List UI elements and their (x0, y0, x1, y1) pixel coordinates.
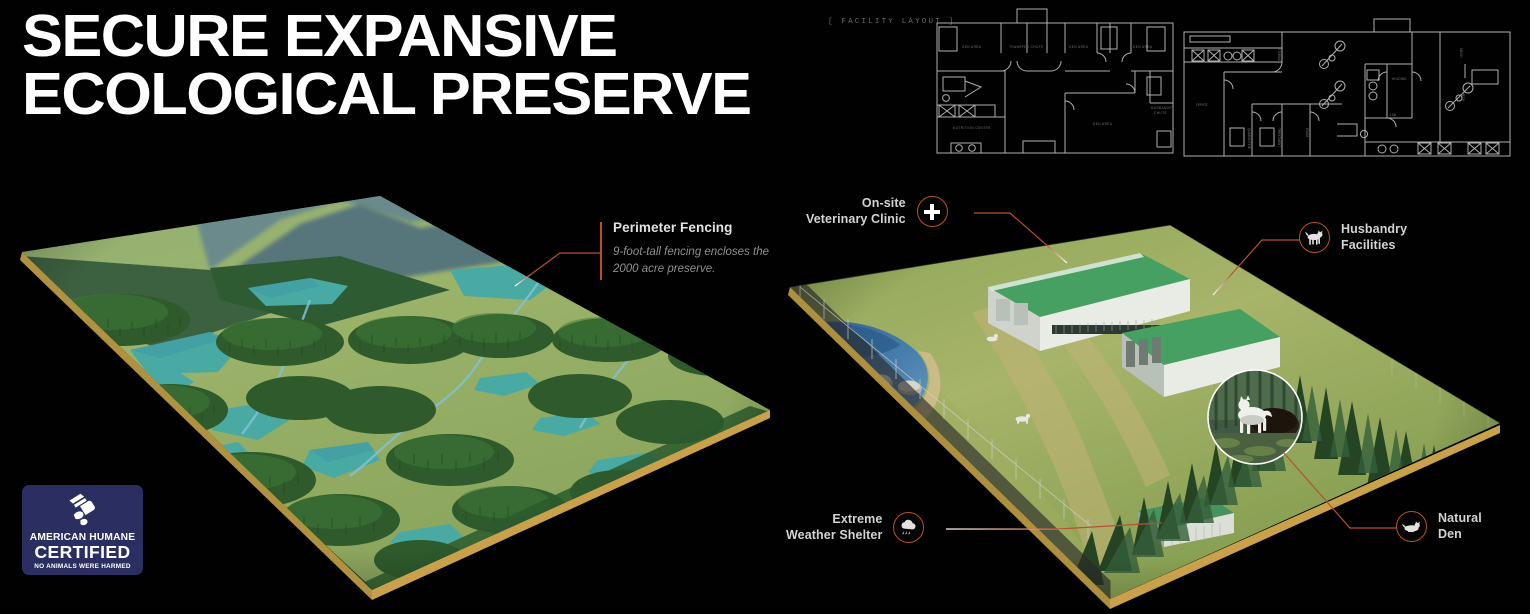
svg-text:LAB: LAB (1390, 113, 1396, 117)
den-photo-inset (1208, 370, 1302, 464)
infographic-canvas: SECURE EXPANSIVE ECOLOGICAL PRESERVE [ F… (0, 0, 1530, 609)
svg-text:DEN AREA: DEN AREA (1069, 45, 1089, 49)
natural-den-label-line-2: Den (1438, 527, 1482, 543)
wolf-resting-icon[interactable] (1396, 511, 1427, 542)
humane-hand-paw-icon (63, 491, 103, 531)
callout-husbandry-facilities[interactable]: Husbandry Facilities (1299, 222, 1407, 253)
svg-text:TRANSFER CHUTE: TRANSFER CHUTE (1009, 45, 1044, 49)
svg-text:TREATMENT: TREATMENT (1277, 128, 1281, 147)
page-title-line-2: ECOLOGICAL PRESERVE (22, 66, 750, 124)
callout-veterinary-clinic[interactable]: On-site Veterinary Clinic (806, 196, 948, 227)
svg-text:CHUTE: CHUTE (1154, 111, 1167, 115)
blueprint-plan-left: DEN AREA TRANSFER CHUTE DEN AREA DEN ARE… (935, 5, 1175, 157)
svg-text:DEN AREA: DEN AREA (1093, 122, 1113, 126)
svg-text:MECH: MECH (1461, 92, 1465, 102)
blueprint-plan-right: STORAGE OFFICE QUARANTINE TREATMENT EXAM… (1182, 18, 1512, 158)
svg-text:EXAM: EXAM (1305, 128, 1309, 137)
husbandry-facilities-label-line-1: Husbandry (1341, 222, 1407, 238)
svg-text:DEN AREA: DEN AREA (1133, 45, 1153, 49)
compound-aerial-model (740, 175, 1530, 609)
svg-text:HUSBANDRY: HUSBANDRY (1151, 106, 1175, 110)
natural-den-label: Natural Den (1438, 511, 1482, 542)
extreme-weather-shelter-label-line-2: Weather Shelter (786, 528, 882, 544)
svg-text:MECH: MECH (1459, 48, 1463, 58)
callout-natural-den[interactable]: Natural Den (1396, 511, 1482, 542)
veterinary-clinic-label: On-site Veterinary Clinic (806, 196, 906, 227)
perimeter-fencing-title: Perimeter Fencing (613, 220, 778, 235)
facility-layout-blueprint: [ FACILITY LAYOUT ] (820, 0, 1530, 160)
rain-cloud-icon[interactable] (893, 512, 924, 543)
extreme-weather-shelter-label-line-1: Extreme (786, 512, 882, 528)
perimeter-fencing-body: 9-foot-tall fencing encloses the 2000 ac… (613, 244, 778, 279)
extreme-weather-shelter-label: Extreme Weather Shelter (786, 512, 882, 543)
natural-den-label-line-1: Natural (1438, 511, 1482, 527)
svg-text:QUARANTINE: QUARANTINE (1247, 128, 1251, 149)
husbandry-facilities-label-line-2: Facilities (1341, 238, 1407, 254)
svg-text:OFFICE: OFFICE (1196, 103, 1208, 107)
svg-text:NUTRITION CENTER: NUTRITION CENTER (953, 126, 991, 130)
svg-text:STORAGE: STORAGE (1277, 48, 1281, 64)
page-title: SECURE EXPANSIVE ECOLOGICAL PRESERVE (22, 8, 750, 124)
svg-text:DEN AREA: DEN AREA (962, 45, 982, 49)
callout-perimeter-fencing: Perimeter Fencing 9-foot-tall fencing en… (600, 220, 778, 279)
medical-cross-icon[interactable] (917, 196, 948, 227)
veterinary-clinic-label-line-1: On-site (806, 196, 906, 212)
svg-text:HOLDING: HOLDING (1392, 77, 1407, 81)
wolf-standing-icon[interactable] (1299, 222, 1330, 253)
veterinary-clinic-label-line-2: Veterinary Clinic (806, 212, 906, 228)
callout-extreme-weather-shelter[interactable]: Extreme Weather Shelter (786, 512, 924, 543)
american-humane-certified-badge: AMERICAN HUMANE CERTIFIED NO ANIMALS WER… (22, 485, 143, 575)
badge-line-2: CERTIFIED (35, 543, 131, 561)
page-title-line-1: SECURE EXPANSIVE (22, 8, 750, 66)
badge-line-3: NO ANIMALS WERE HARMED (34, 563, 131, 570)
husbandry-facilities-label: Husbandry Facilities (1341, 222, 1407, 253)
